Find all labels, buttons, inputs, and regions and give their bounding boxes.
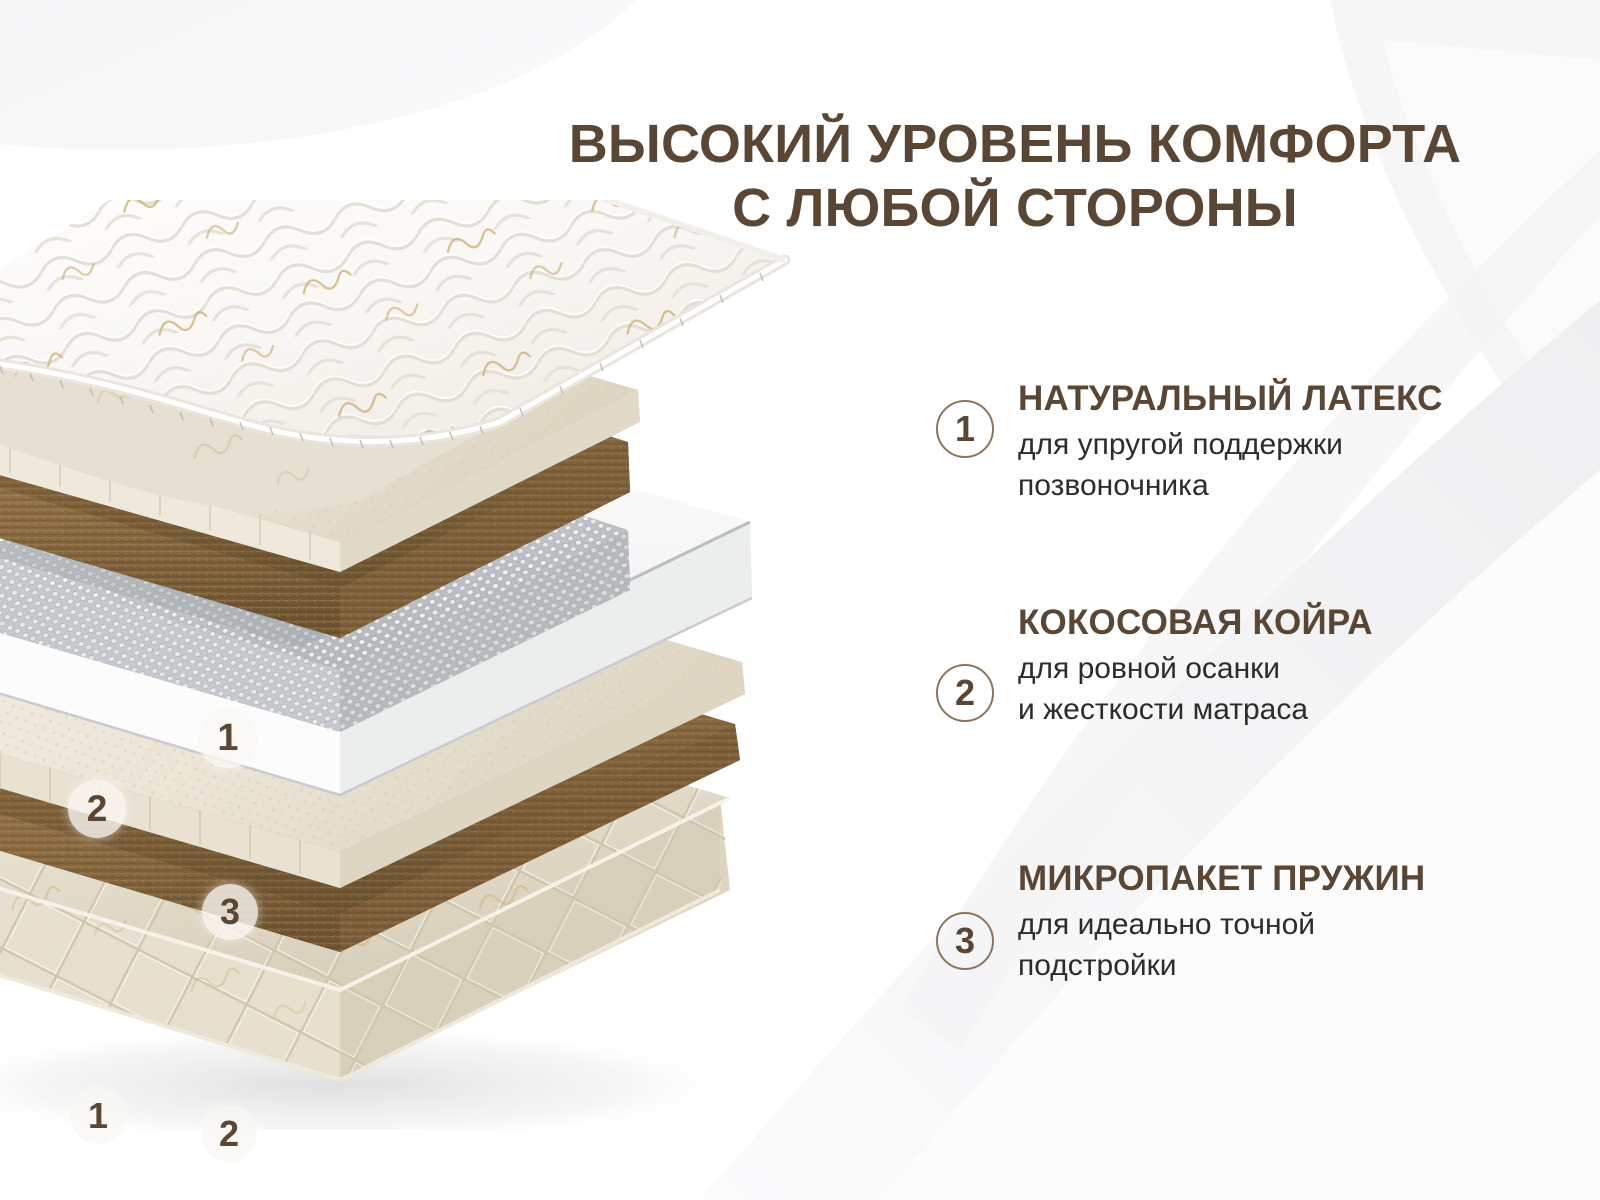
bg-swoosh-bottom-right-inner — [880, 470, 1600, 1200]
feature-title-springs: МИКРОПАКЕТ ПРУЖИН — [1018, 858, 1425, 900]
page-title-line-1: ВЫСОКИЙ УРОВЕНЬ КОМФОРТА — [470, 112, 1560, 176]
feature-item-latex: 1 НАТУРАЛЬНЫЙ ЛАТЕКС для упругой поддерж… — [936, 378, 1443, 506]
feature-text-latex: НАТУРАЛЬНЫЙ ЛАТЕКС для упругой поддержки… — [1018, 378, 1443, 506]
mattress-illustration: 1 2 3 1 2 — [0, 200, 880, 1130]
feature-desc-latex-line-1: для упругой поддержки — [1018, 424, 1443, 465]
infographic-canvas: 1 2 3 1 2 ВЫСОКИЙ УРОВЕНЬ КОМФОРТА С ЛЮБ… — [0, 0, 1600, 1200]
photo-badge-coir-bottom: 2 — [201, 1106, 257, 1162]
feature-desc-latex-line-2: позвоночника — [1018, 465, 1443, 506]
feature-desc-springs-line-2: подстройки — [1018, 945, 1425, 986]
feature-text-coir: КОКОСОВАЯ КОЙРА для ровной осанки и жест… — [1018, 602, 1373, 730]
page-title-line-2: С ЛЮБОЙ СТОРОНЫ — [470, 176, 1560, 240]
photo-badge-latex-top: 1 — [198, 708, 258, 768]
feature-number-badge-3: 3 — [936, 912, 994, 970]
feature-desc-springs-line-1: для идеально точной — [1018, 904, 1425, 945]
photo-badge-latex-bottom: 1 — [70, 1088, 126, 1144]
feature-title-coir: КОКОСОВАЯ КОЙРА — [1018, 602, 1373, 644]
feature-item-coir: 2 КОКОСОВАЯ КОЙРА для ровной осанки и же… — [936, 602, 1373, 730]
feature-title-latex: НАТУРАЛЬНЫЙ ЛАТЕКС — [1018, 378, 1443, 420]
feature-desc-coir-line-1: для ровной осанки — [1018, 648, 1373, 689]
photo-badge-coir-top: 2 — [68, 780, 126, 838]
feature-desc-coir-line-2: и жесткости матраса — [1018, 689, 1373, 730]
page-title: ВЫСОКИЙ УРОВЕНЬ КОМФОРТА С ЛЮБОЙ СТОРОНЫ — [470, 112, 1560, 240]
feature-number-badge-1: 1 — [936, 400, 994, 458]
feature-text-springs: МИКРОПАКЕТ ПРУЖИН для идеально точной по… — [1018, 858, 1425, 986]
layer-quilted-cover — [0, 200, 785, 511]
feature-number-badge-2: 2 — [936, 664, 994, 722]
photo-badge-springs: 3 — [202, 884, 258, 940]
feature-item-springs: 3 МИКРОПАКЕТ ПРУЖИН для идеально точной … — [936, 858, 1425, 986]
